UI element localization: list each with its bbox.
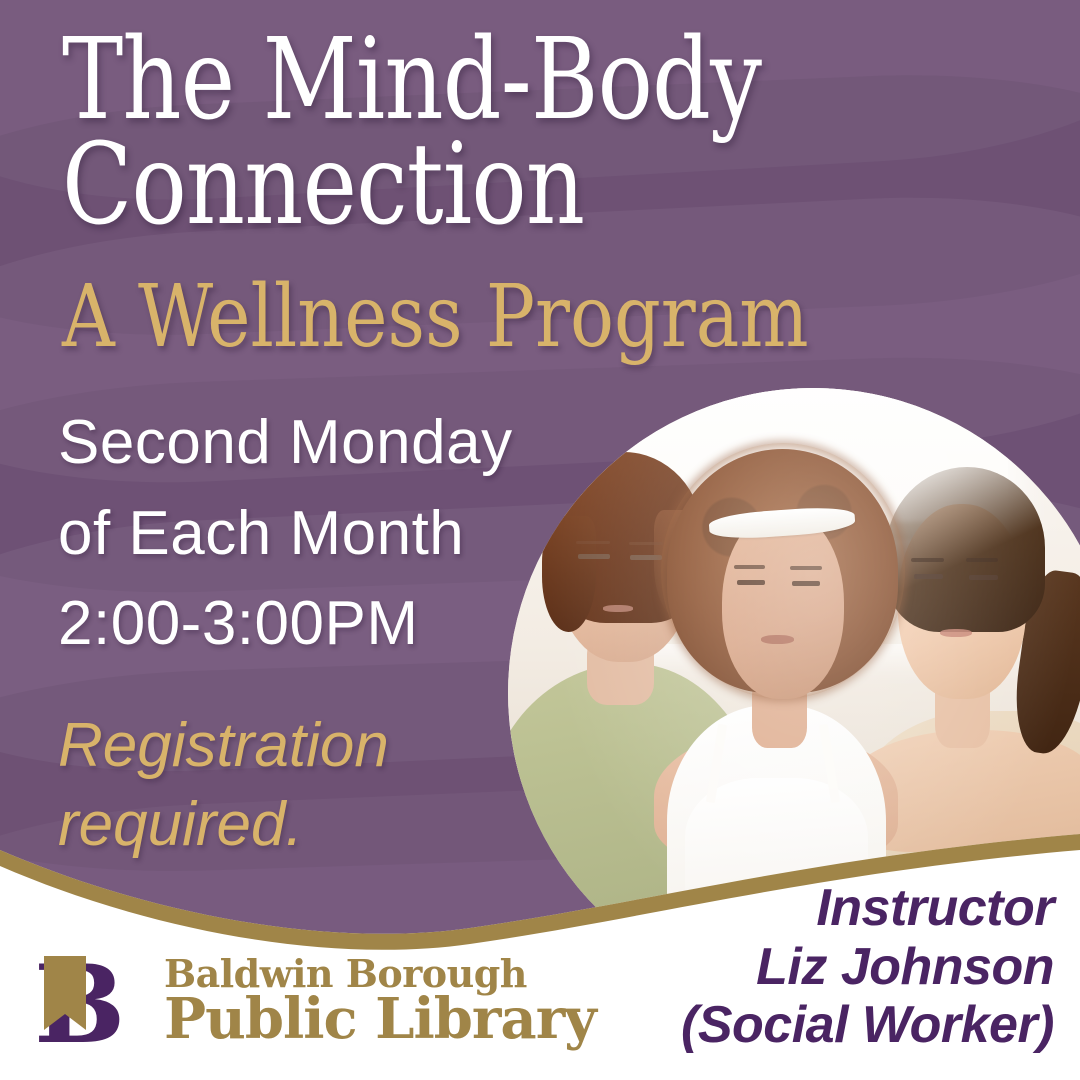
title-line-2: Connection [62, 133, 800, 238]
schedule-line-3: 2:00-3:00PM [58, 579, 578, 670]
schedule-line-2: of Each Month [58, 489, 578, 580]
figure1-brow-left [576, 541, 610, 545]
registration-line-2: required. [58, 785, 578, 864]
logo-line-2: Public Library [164, 994, 596, 1046]
figure1-brow-right [629, 542, 663, 546]
registration-note: Registration required. [58, 706, 578, 865]
schedule-line-1: Second Monday [58, 398, 578, 489]
library-logo: B Baldwin Borough Public Library [28, 946, 596, 1056]
figure2-lips [761, 635, 794, 644]
logo-wordmark: Baldwin Borough Public Library [164, 957, 596, 1045]
figure3-eye-left [914, 574, 943, 579]
poster-canvas: The Mind-Body Connection A Wellness Prog… [0, 0, 1080, 1080]
instructor-name: Liz Johnson [681, 938, 1054, 996]
instructor-role: (Social Worker) [681, 996, 1054, 1054]
schedule-block: Second Monday of Each Month 2:00-3:00PM [58, 398, 578, 670]
figure1-eye-left [578, 554, 610, 559]
figure3-brow-right [966, 558, 999, 562]
figure3-brow-left [911, 558, 944, 562]
figure3-eye-right [969, 575, 998, 580]
figure3-hair [886, 467, 1045, 632]
figure2-eye-right [792, 581, 820, 586]
page-subtitle: A Wellness Program [62, 274, 912, 360]
instructor-label: Instructor [681, 879, 1054, 937]
title-line-1: The Mind-Body [62, 28, 800, 133]
page-title: The Mind-Body Connection [62, 28, 800, 239]
logo-mark-b-bookmark-icon: B [28, 946, 148, 1056]
registration-line-1: Registration [58, 706, 578, 785]
figure2-brow-right [790, 566, 822, 570]
instructor-block: Instructor Liz Johnson (Social Worker) [681, 879, 1054, 1054]
figure2-brow-left [734, 565, 766, 569]
figure2-head [722, 510, 844, 699]
figure1-eye-right [630, 555, 662, 560]
figure2-eye-left [737, 580, 765, 585]
figure3-lips [940, 629, 972, 637]
figure1-lips [603, 605, 634, 612]
